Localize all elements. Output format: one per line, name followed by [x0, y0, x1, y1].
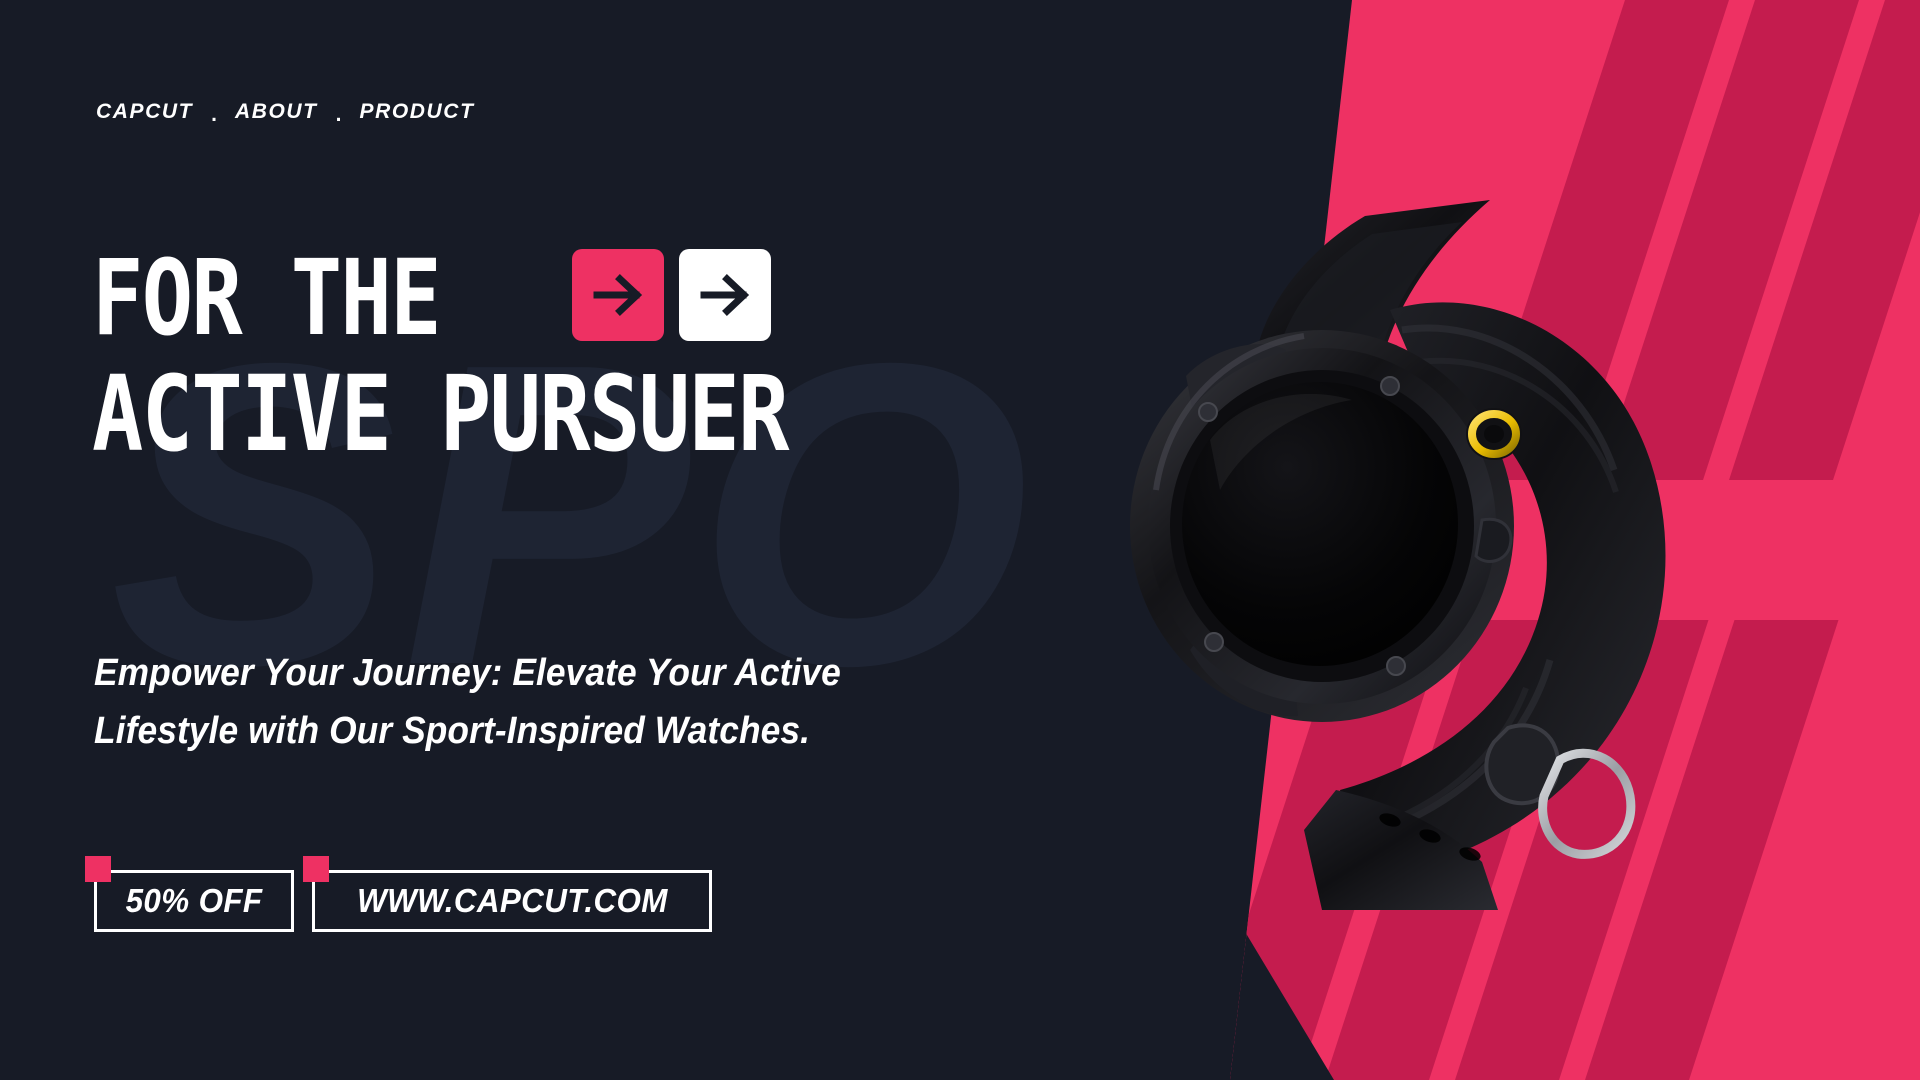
subtitle-block: Empower Your Journey: Elevate Your Activ…: [94, 645, 841, 761]
discount-badge[interactable]: 50% OFF: [94, 870, 294, 932]
arrow-right-button-secondary[interactable]: [679, 249, 771, 341]
watch-face-screen: [1182, 382, 1458, 666]
website-label: WWW.CAPCUT.COM: [357, 882, 668, 920]
corner-square-accent: [303, 856, 329, 882]
product-image-smartwatch: [1090, 190, 1790, 910]
nav-separator-dot: .: [336, 104, 342, 125]
headline-line-1: FOR THE: [92, 248, 440, 350]
nav-item-about[interactable]: ABOUT: [235, 100, 318, 124]
arrow-right-button-primary[interactable]: [572, 249, 664, 341]
headline-line-1-row: FOR THE: [92, 248, 941, 350]
corner-square-accent: [85, 856, 111, 882]
subtitle-line-2: Lifestyle with Our Sport-Inspired Watche…: [94, 703, 841, 761]
headline-line-2: ACTIVE PURSUER: [92, 364, 788, 466]
arrow-button-group: [572, 249, 771, 341]
subtitle-line-1: Empower Your Journey: Elevate Your Activ…: [94, 645, 841, 703]
banner-canvas: SPO CAPCUT . ABOUT . PRODUCT FOR THE: [0, 0, 1920, 1080]
nav-item-product[interactable]: PRODUCT: [359, 100, 474, 124]
cta-bar: 50% OFF WWW.CAPCUT.COM: [94, 870, 712, 932]
arrow-right-icon: [592, 269, 644, 321]
headline-line-2-row: ACTIVE PURSUER: [92, 364, 941, 466]
nav-item-capcut[interactable]: CAPCUT: [96, 100, 193, 124]
watch-side-button: [1476, 519, 1511, 561]
headline-block: FOR THE: [92, 248, 941, 466]
arrow-right-icon: [699, 269, 751, 321]
nav-separator-dot: .: [211, 104, 217, 125]
website-badge[interactable]: WWW.CAPCUT.COM: [312, 870, 712, 932]
watch-crown-button: [1466, 408, 1522, 460]
top-navigation: CAPCUT . ABOUT . PRODUCT: [96, 100, 475, 124]
discount-label: 50% OFF: [126, 882, 263, 920]
watch-buckle: [1543, 753, 1631, 854]
